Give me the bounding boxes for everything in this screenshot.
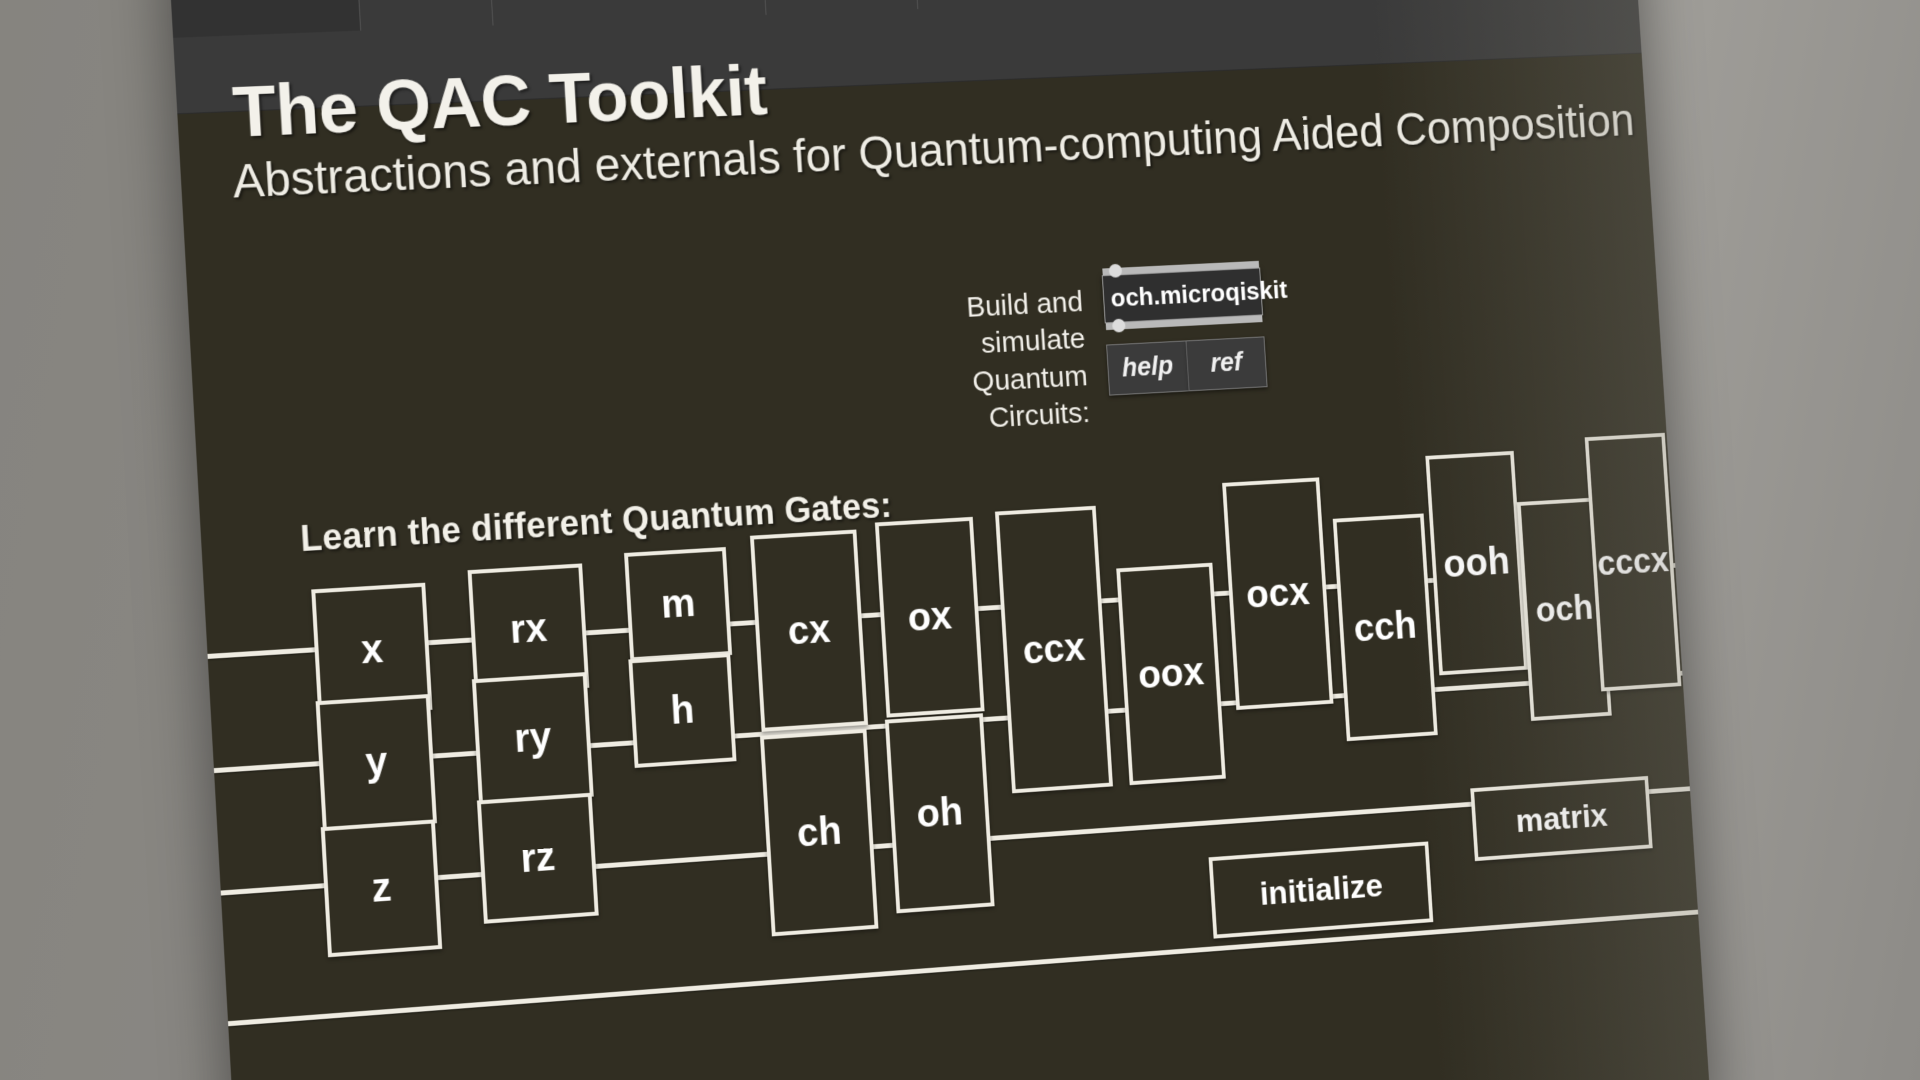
message-box-label: matrix (1515, 797, 1609, 841)
message-box-label: initialize (1259, 867, 1384, 914)
quantum-circuit-diagram: x rx m y ry h z rz cx ox ch oh ccx oox o… (203, 482, 1702, 1080)
och-microqiskit-label: och.microqiskit (1110, 275, 1288, 313)
gate-ooh[interactable]: ooh (1425, 451, 1527, 675)
build-simulate-label: Build and simulate Quantum Circuits: (867, 284, 1091, 444)
gate-label: ry (513, 715, 552, 762)
gate-label: oh (915, 790, 964, 837)
gate-label: y (364, 739, 388, 785)
max-patcher-window: Why QAC_&_Qiskit About The QAC Toolkit A… (167, 0, 1711, 1080)
gate-oox[interactable]: oox (1116, 563, 1226, 786)
gate-cch[interactable]: cch (1333, 513, 1438, 741)
gate-label: z (370, 865, 392, 911)
desktop-background: Why QAC_&_Qiskit About The QAC Toolkit A… (0, 0, 1920, 1080)
gate-rz[interactable]: rz (477, 793, 599, 924)
gate-oh[interactable]: oh (885, 713, 995, 913)
qubit-wire-3 (228, 910, 1698, 1027)
gate-label: och (1534, 587, 1594, 631)
build-simulate-line2: Quantum Circuits: (871, 358, 1091, 444)
gate-label: cx (787, 607, 832, 654)
gate-label: rz (519, 835, 556, 882)
gate-label: ox (906, 594, 953, 641)
message-box-matrix[interactable]: matrix (1470, 776, 1652, 861)
tab-about[interactable]: About (761, 0, 919, 15)
ref-button[interactable]: ref (1186, 336, 1268, 391)
object-outlet (1106, 315, 1263, 330)
object-inlet (1102, 261, 1259, 275)
gate-label: x (360, 627, 384, 673)
och-microqiskit-object[interactable]: och.microqiskit (1102, 267, 1263, 323)
gate-label: h (669, 687, 695, 733)
gate-ch[interactable]: ch (760, 729, 879, 937)
gate-y[interactable]: y (316, 694, 437, 831)
gate-label: ooh (1442, 539, 1511, 586)
gate-label: oox (1137, 650, 1205, 698)
object-button-row: help ref (1106, 336, 1268, 395)
gate-ry[interactable]: ry (472, 672, 594, 804)
microqiskit-object-group: och.microqiskit help ref (1102, 267, 1268, 395)
page-title: The QAC Toolkit (231, 56, 769, 149)
gate-label: rx (509, 606, 548, 653)
gate-cccx[interactable]: cccx (1585, 433, 1682, 692)
gate-cx[interactable]: cx (750, 530, 868, 732)
gate-label: ocx (1245, 570, 1311, 617)
gate-ccx[interactable]: ccx (995, 506, 1113, 794)
build-simulate-line1: Build and simulate (867, 284, 1087, 369)
tab-home[interactable] (167, 0, 361, 38)
gate-label: m (660, 581, 697, 627)
gate-z[interactable]: z (321, 819, 443, 957)
gate-label: cccx (1596, 540, 1670, 584)
gate-ox[interactable]: ox (875, 517, 985, 718)
gate-label: ch (796, 809, 843, 856)
tab-qac-and-qiskit[interactable]: QAC_&_Qiskit (487, 0, 767, 25)
help-button[interactable]: help (1106, 340, 1189, 395)
tab-list: Why QAC_&_Qiskit About (167, 0, 918, 38)
tab-why[interactable]: Why (355, 0, 493, 31)
gate-ocx[interactable]: ocx (1222, 477, 1333, 710)
gate-m[interactable]: m (624, 547, 732, 661)
gate-label: cch (1353, 604, 1418, 651)
message-box-initialize[interactable]: initialize (1209, 841, 1434, 938)
gate-h[interactable]: h (628, 653, 736, 768)
gate-label: ccx (1022, 625, 1087, 673)
